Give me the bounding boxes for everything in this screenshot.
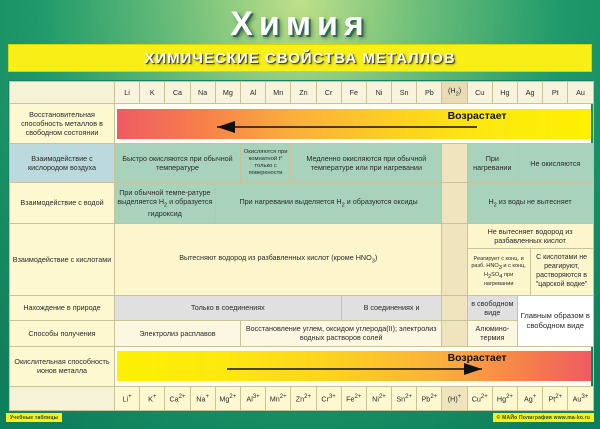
gradient-band-top: Возрастает — [117, 109, 591, 139]
row-label-obtaining: Способы получения — [10, 321, 115, 347]
poster-root: Химия ХИМИЧЕСКИЕ СВОЙСТВА МЕТАЛЛОВ Li K … — [0, 0, 600, 429]
ion-cell-au: Au3+ — [568, 387, 593, 411]
oxidizing-band-cell: Возрастает — [115, 346, 594, 386]
acids-right-group: Не вытесняет водород из разбавленных кис… — [467, 223, 593, 295]
element-header-ag: Ag — [518, 82, 543, 104]
footer-right-label: © МАЙо Полиграфия www.ma-ko.ru — [493, 413, 594, 422]
row-label-oxidizing: Окислительная способность ионов металла — [10, 346, 115, 386]
ion-cell-sn: Sn2+ — [392, 387, 417, 411]
properties-table: Li K Ca Na Mg Al Mn Zn Cr Fe Ni Sn Pb (H… — [9, 81, 594, 411]
element-header-zn: Zn — [291, 82, 316, 104]
element-header-au: Au — [568, 82, 593, 104]
element-header-pt: Pt — [543, 82, 568, 104]
element-header-li: Li — [115, 82, 140, 104]
obtaining-row: Способы получения Электролиз расплавов В… — [10, 321, 594, 347]
properties-table-frame: Li K Ca Na Mg Al Mn Zn Cr Fe Ni Sn Pb (H… — [8, 80, 592, 412]
row-label-nature: Нахождение в природе — [10, 295, 115, 321]
element-header-k: K — [140, 82, 165, 104]
ion-cell-ca: Ca2+ — [165, 387, 190, 411]
oxygen-row: Взаимодействие с кислородом воздуха Быст… — [10, 144, 594, 183]
ion-row: Li+ K+ Ca2+ Na+ Mg2+ Al3+ Mn2+ Zn2+ Cr3+… — [10, 387, 594, 411]
right-arrow-icon — [117, 351, 591, 381]
element-header-na: Na — [190, 82, 215, 104]
acids-cell-2: Не вытесняет водород из разбавленных кис… — [468, 224, 593, 249]
ion-cell-al: Al3+ — [240, 387, 265, 411]
row-label-acids: Взаимодействие с кислотами — [10, 223, 115, 295]
oxygen-cell-1: Быстро окисляются при обычной температур… — [115, 144, 241, 183]
reducing-ability-row: Восстановительная способность металлов в… — [10, 104, 594, 144]
oxygen-cell-5: Не окисляются — [518, 144, 594, 183]
ion-cell-na: Na+ — [190, 387, 215, 411]
nature-row: Нахождение в природе Только в соединения… — [10, 295, 594, 321]
ion-cell-cu: Cu2+ — [467, 387, 492, 411]
gradient-band-bottom: Возрастает — [117, 351, 591, 381]
element-header-mn: Mn — [266, 82, 291, 104]
water-row: Взаимодействие с водой При обычной темпе… — [10, 183, 594, 224]
element-header-ni: Ni — [366, 82, 391, 104]
nature-cell-hydrogen — [442, 295, 467, 321]
ion-cell-mn: Mn2+ — [266, 387, 291, 411]
element-header-row: Li K Ca Na Mg Al Mn Zn Cr Fe Ni Sn Pb (H… — [10, 82, 594, 104]
ion-cell-zn: Zn2+ — [291, 387, 316, 411]
element-header-mg: Mg — [215, 82, 240, 104]
oxygen-cell-3: Медленно окисляются при обычной температ… — [291, 144, 442, 183]
nature-cell-3: в свободном виде — [467, 295, 517, 321]
water-cell-2: При нагревании выделяется H2 и образуютс… — [215, 183, 442, 224]
element-header-cr: Cr — [316, 82, 341, 104]
water-cell-1: При обычной темпе-ратуре выделяется H2 и… — [115, 183, 216, 224]
obtaining-cell-hydrogen — [442, 321, 467, 347]
nature-cell-2: В соединениях и — [341, 295, 442, 321]
nature-cell-4: Главным образом в свободном виде — [518, 295, 594, 346]
acids-row: Взаимодействие с кислотами Вытесняют вод… — [10, 223, 594, 295]
water-cell-hydrogen — [442, 183, 467, 224]
row-label-oxygen: Взаимодействие с кислородом воздуха — [10, 144, 115, 183]
acids-cell-4: С кислотами не реагируют, растворяются в… — [530, 249, 592, 295]
ion-cell-ag: Ag+ — [518, 387, 543, 411]
ion-cell-li: Li+ — [115, 387, 140, 411]
footer-left-label: Учебные таблицы — [6, 413, 62, 422]
acids-cell-hydrogen — [442, 223, 467, 295]
obtaining-cell-1: Электролиз расплавов — [115, 321, 241, 347]
subtitle-text: ХИМИЧЕСКИЕ СВОЙСТВА МЕТАЛЛОВ — [144, 50, 455, 67]
water-cell-3: H2 из воды не вытесняет — [467, 183, 593, 224]
ion-cell-hg: Hg2+ — [492, 387, 517, 411]
element-header-sn: Sn — [392, 82, 417, 104]
element-header-hg: Hg — [492, 82, 517, 104]
row-label-reducing: Восстановительная способность металлов в… — [10, 104, 115, 144]
ion-cell-hydrogen: (H)+ — [442, 387, 467, 411]
corner-cell — [10, 82, 115, 104]
element-header-hydrogen: (H2) — [442, 82, 467, 104]
subtitle-bar: ХИМИЧЕСКИЕ СВОЙСТВА МЕТАЛЛОВ — [8, 44, 592, 72]
element-header-pb: Pb — [417, 82, 442, 104]
ion-cell-k: K+ — [140, 387, 165, 411]
ion-cell-fe: Fe2+ — [341, 387, 366, 411]
acids-cell-3: Реагирует с конц. и разб. HNO3 и с конц.… — [468, 249, 530, 295]
acids-cell-1: Вытесняют водород из разбавленных кислот… — [115, 223, 442, 295]
ion-cell-cr: Cr3+ — [316, 387, 341, 411]
nature-cell-1: Только в соединениях — [115, 295, 342, 321]
page-title: Химия — [0, 4, 600, 44]
ion-cell-ni: Ni2+ — [366, 387, 391, 411]
element-header-al: Al — [240, 82, 265, 104]
element-header-cu: Cu — [467, 82, 492, 104]
element-header-ca: Ca — [165, 82, 190, 104]
left-arrow-icon — [117, 109, 591, 139]
ion-cell-pt: Pt2+ — [543, 387, 568, 411]
ion-cell-mg: Mg2+ — [215, 387, 240, 411]
obtaining-cell-2: Восстановление углем, оксидом углерода(I… — [240, 321, 442, 347]
oxygen-cell-4: При нагревании — [467, 144, 517, 183]
ion-cell-pb: Pb2+ — [417, 387, 442, 411]
oxygen-cell-2: Окисляются при комнатной t° только с пов… — [240, 144, 290, 183]
title-area: Химия — [0, 0, 600, 44]
reducing-band-cell: Возрастает — [115, 104, 594, 144]
obtaining-cell-3: Алюмино-термия — [467, 321, 517, 347]
oxidizing-ability-row: Окислительная способность ионов металла … — [10, 346, 594, 386]
ion-row-corner — [10, 387, 115, 411]
oxygen-cell-hydrogen — [442, 144, 467, 183]
footer: Учебные таблицы © МАЙо Полиграфия www.ma… — [0, 413, 600, 427]
element-header-fe: Fe — [341, 82, 366, 104]
row-label-water: Взаимодействие с водой — [10, 183, 115, 224]
